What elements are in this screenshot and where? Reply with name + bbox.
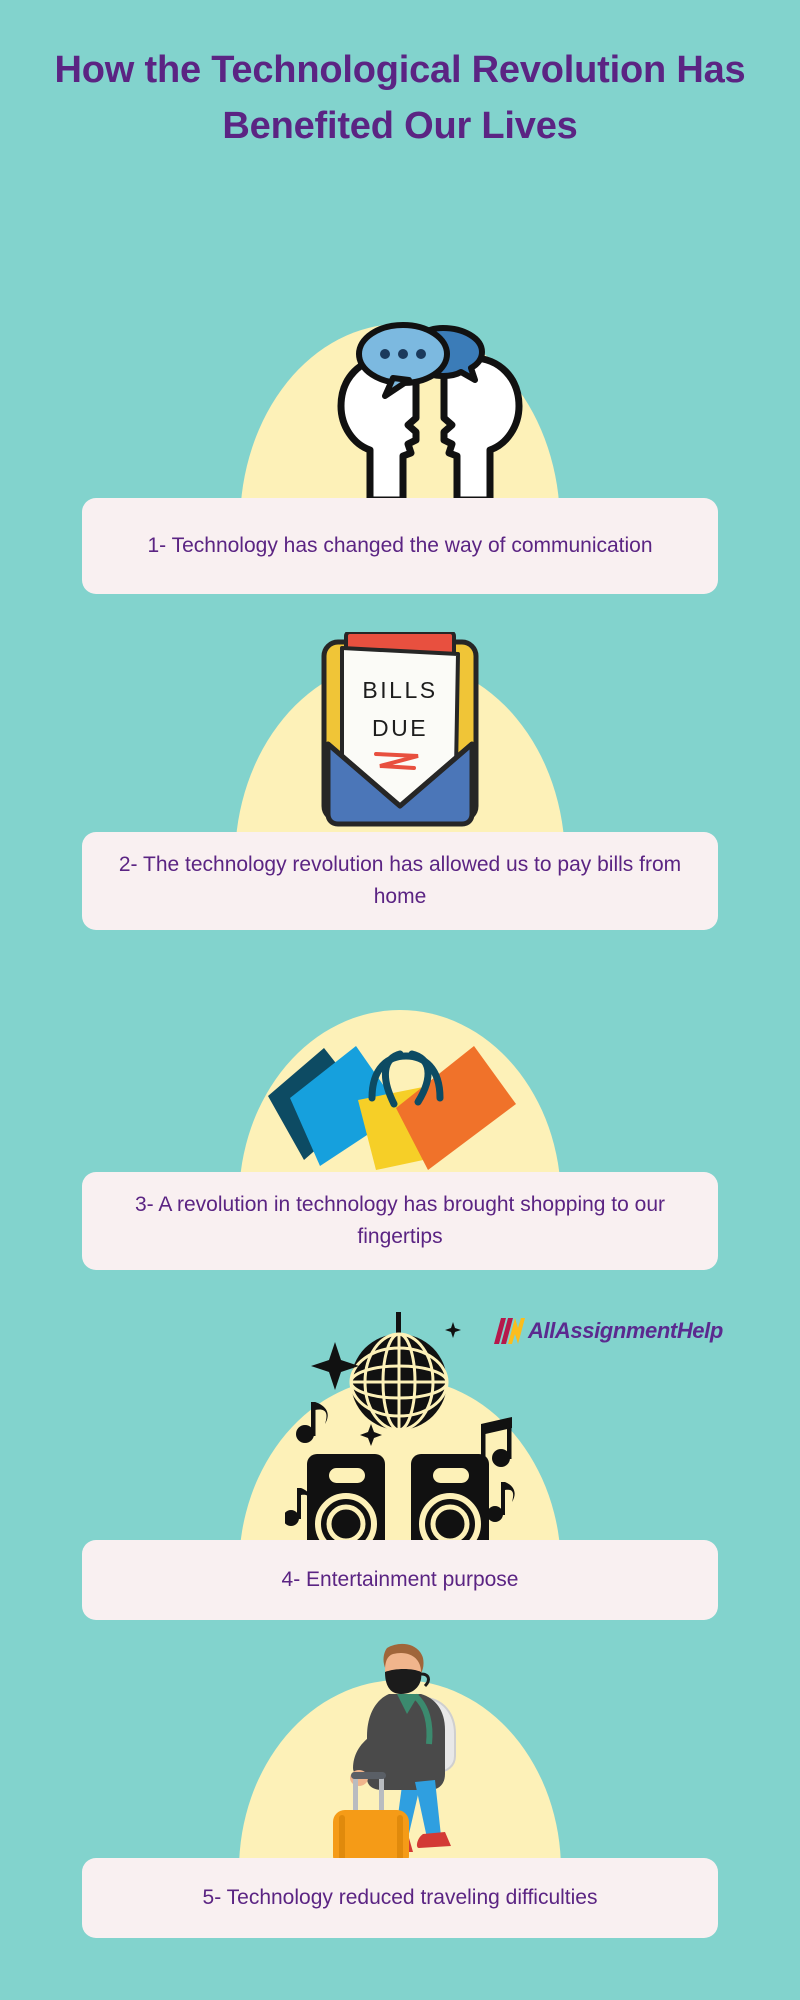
infographic-page: How the Technological Revolution Has Ben… <box>0 0 800 2000</box>
list-item-label: 5- Technology reduced traveling difficul… <box>203 1882 598 1914</box>
list-item-card-3: 3- A revolution in technology has brough… <box>82 1172 718 1270</box>
two-heads-speech-bubbles-icon <box>275 322 525 500</box>
traveler-with-suitcase-icon <box>315 1632 485 1870</box>
list-item-card-2: 2- The technology revolution has allowed… <box>82 832 718 930</box>
disco-ball-speakers-icon <box>285 1306 515 1568</box>
list-item-label: 4- Entertainment purpose <box>282 1564 519 1596</box>
envelope-label-line1: BILLS <box>362 677 437 703</box>
page-title: How the Technological Revolution Has Ben… <box>0 42 800 154</box>
list-item-card-1: 1- Technology has changed the way of com… <box>82 498 718 594</box>
shopping-bags-icon <box>260 1032 540 1172</box>
list-item-label: 1- Technology has changed the way of com… <box>147 530 652 562</box>
triple-slash-m-mark <box>492 1318 526 1344</box>
brand-logo-text: AllAssignmentHelp <box>528 1320 723 1342</box>
list-item-label: 2- The technology revolution has allowed… <box>116 849 684 913</box>
list-item-card-5: 5- Technology reduced traveling difficul… <box>82 1858 718 1938</box>
list-item-label: 3- A revolution in technology has brough… <box>116 1189 684 1253</box>
open-envelope-bills-due-icon: BILLS DUE <box>310 632 490 830</box>
brand-logo[interactable]: AllAssignmentHelp <box>492 1318 723 1344</box>
list-item-card-4: 4- Entertainment purpose <box>82 1540 718 1620</box>
envelope-label-line2: DUE <box>372 715 428 741</box>
